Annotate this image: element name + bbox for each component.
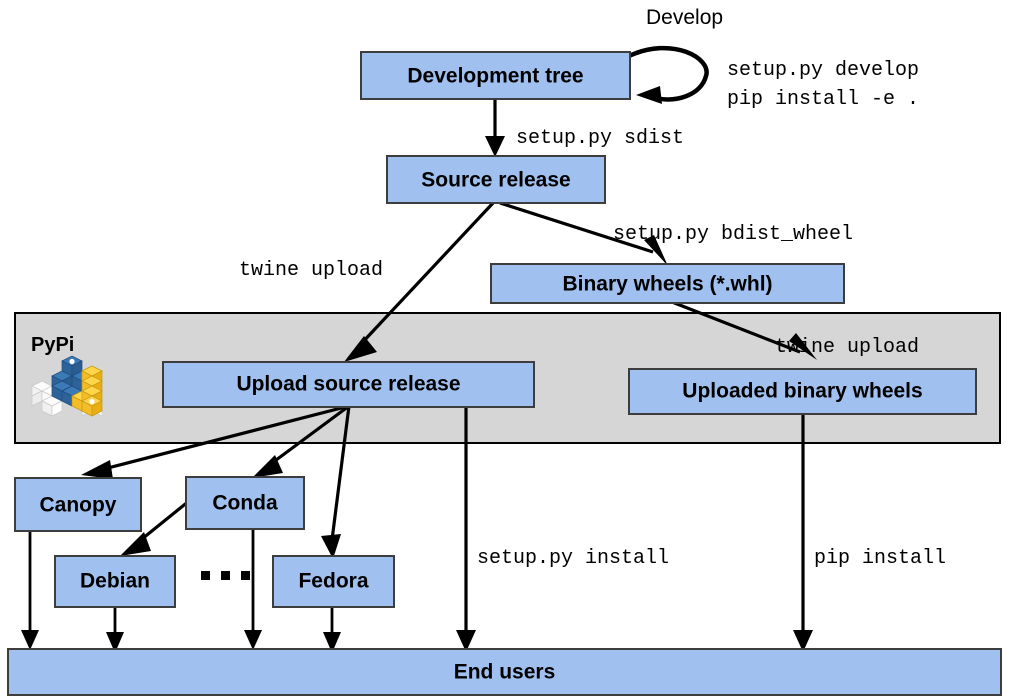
- edge-label-twine-upload-source: twine upload: [239, 259, 383, 282]
- edge-label-setup-py-develop: setup.py develop: [727, 59, 919, 82]
- node-binary-wheels-label: Binary wheels (*.whl): [562, 273, 772, 296]
- node-binary-wheels[interactable]: Binary wheels (*.whl): [491, 264, 844, 303]
- arrow-head-conda-to-endusers: [244, 630, 262, 650]
- arrow-head-develop-loop: [636, 86, 662, 104]
- node-uploaded-binary-wheels[interactable]: Uploaded binary wheels: [629, 369, 976, 414]
- node-end-users-label: End users: [454, 661, 556, 684]
- node-canopy-label: Canopy: [39, 494, 116, 517]
- edge-dev-to-source: [485, 99, 505, 157]
- edge-conda-to-endusers: [244, 528, 262, 650]
- edge-fedora-to-endusers: [323, 607, 341, 653]
- node-debian-label: Debian: [80, 570, 150, 593]
- node-fedora-label: Fedora: [298, 570, 368, 593]
- edge-label-pip-install-editable: pip install -e .: [727, 88, 919, 111]
- edge-debian-to-endusers: [106, 607, 124, 653]
- node-conda[interactable]: Conda: [186, 477, 304, 529]
- packaging-flow-diagram: PyPi: [0, 0, 1009, 698]
- node-conda-label: Conda: [212, 492, 278, 515]
- edge-label-setup-py-install: setup.py install: [477, 547, 669, 570]
- edge-label-develop: Develop: [646, 6, 723, 29]
- node-fedora[interactable]: Fedora: [273, 556, 394, 607]
- edge-label-twine-upload-wheels: twine upload: [775, 336, 919, 359]
- edge-label-pip-install: pip install: [814, 547, 946, 570]
- edge-develop-loop: [629, 48, 707, 104]
- node-end-users[interactable]: End users: [8, 649, 1001, 695]
- arrow-head-canopy-to-endusers: [21, 630, 39, 650]
- arrow-head-upload-to-canopy: [81, 460, 113, 479]
- node-upload-source-release-label: Upload source release: [236, 373, 460, 396]
- pypi-group-title: PyPi: [31, 334, 74, 356]
- diagram-canvas: PyPi: [0, 0, 1009, 698]
- node-source-release-label: Source release: [421, 169, 570, 192]
- node-upload-source-release[interactable]: Upload source release: [163, 362, 534, 407]
- node-source-release[interactable]: Source release: [387, 156, 605, 203]
- arrow-head-dev-to-source: [485, 136, 505, 157]
- edge-label-setup-py-sdist: setup.py sdist: [516, 127, 684, 150]
- node-debian[interactable]: Debian: [55, 556, 175, 607]
- node-canopy[interactable]: Canopy: [15, 478, 141, 531]
- node-uploaded-binary-wheels-label: Uploaded binary wheels: [682, 380, 922, 403]
- edge-canopy-to-endusers: [21, 530, 39, 650]
- node-development-tree-label: Development tree: [407, 65, 583, 88]
- node-development-tree[interactable]: Development tree: [361, 52, 630, 99]
- edge-label-setup-py-bdist-wheel: setup.py bdist_wheel: [613, 223, 853, 246]
- ellipsis-dots: [201, 571, 250, 580]
